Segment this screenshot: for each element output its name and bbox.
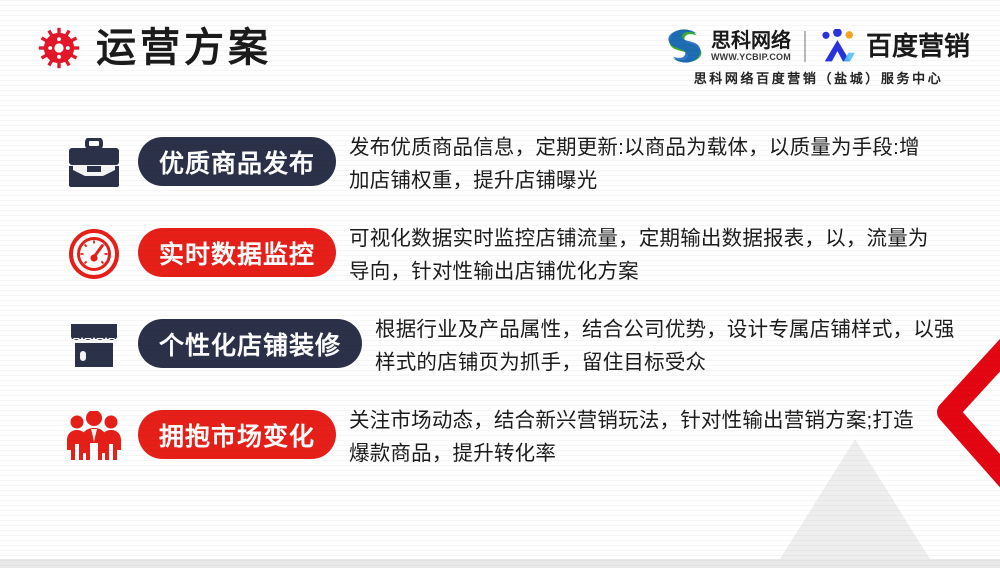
row-label-pill[interactable]: 优质商品发布 (138, 137, 336, 186)
row-label-pill[interactable]: 拥抱市场变化 (138, 410, 336, 459)
slide-header: 运营方案 思科网络 WWW.YCBIP.COM (0, 0, 1000, 108)
content-row: 个性化店铺装修 根据行业及产品属性，结合公司优势，设计专属店铺样式，以强样式的店… (0, 312, 1000, 403)
brand-logos-row: 思科网络 WWW.YCBIP.COM 百度营销 (667, 28, 970, 64)
baidu-name: 百度营销 (866, 33, 970, 59)
row-label-pill[interactable]: 实时数据监控 (138, 228, 336, 277)
content-row: 实时数据监控 可视化数据实时监控店铺流量，定期输出数据报表，以，流量为导向，针对… (0, 221, 1000, 312)
content-rows: 优质商品发布 发布优质商品信息，定期更新:以商品为载体，以质量为手段:增加店铺权… (0, 130, 1000, 494)
row-description: 发布优质商品信息，定期更新:以商品为载体，以质量为手段:增加店铺权重，提升店铺曝… (349, 130, 934, 197)
row-description: 根据行业及产品属性，结合公司优势，设计专属店铺样式，以强样式的店铺页为抓手，留住… (375, 312, 960, 379)
gear-icon (38, 27, 80, 69)
sike-s-mark-icon (667, 28, 705, 64)
slide-canvas: 运营方案 思科网络 WWW.YCBIP.COM (0, 0, 1000, 568)
content-row: 拥抱市场变化 关注市场动态，结合新兴营销玩法，针对性输出营销方案;打造爆款商品，… (0, 403, 1000, 494)
title-block: 运营方案 (38, 27, 272, 69)
baidu-marketing-mark-icon (819, 29, 859, 63)
gauge-icon (66, 226, 122, 282)
sike-url: WWW.YCBIP.COM (711, 53, 791, 62)
row-description: 可视化数据实时监控店铺流量，定期输出数据报表，以，流量为导向，针对性输出店铺优化… (349, 221, 934, 288)
storefront-icon (66, 317, 122, 373)
sike-wordmark: 思科网络 WWW.YCBIP.COM (711, 31, 791, 62)
page-title: 运营方案 (96, 28, 272, 68)
briefcase-icon (66, 135, 122, 191)
people-group-icon (66, 408, 122, 464)
baidu-logo: 百度营销 (819, 29, 970, 63)
brand-tagline: 思科网络百度营销（盐城）服务中心 (694, 68, 944, 87)
sike-logo: 思科网络 WWW.YCBIP.COM (667, 28, 791, 64)
sike-name: 思科网络 (711, 31, 791, 51)
bottom-gray-strip (0, 559, 1000, 568)
row-description: 关注市场动态，结合新兴营销玩法，针对性输出营销方案;打造爆款商品，提升转化率 (349, 403, 934, 470)
brand-lockup: 思科网络 WWW.YCBIP.COM 百度营销 思科网络 (667, 28, 970, 87)
brand-divider (804, 31, 806, 62)
row-label-pill[interactable]: 个性化店铺装修 (138, 319, 362, 368)
content-row: 优质商品发布 发布优质商品信息，定期更新:以商品为载体，以质量为手段:增加店铺权… (0, 130, 1000, 221)
